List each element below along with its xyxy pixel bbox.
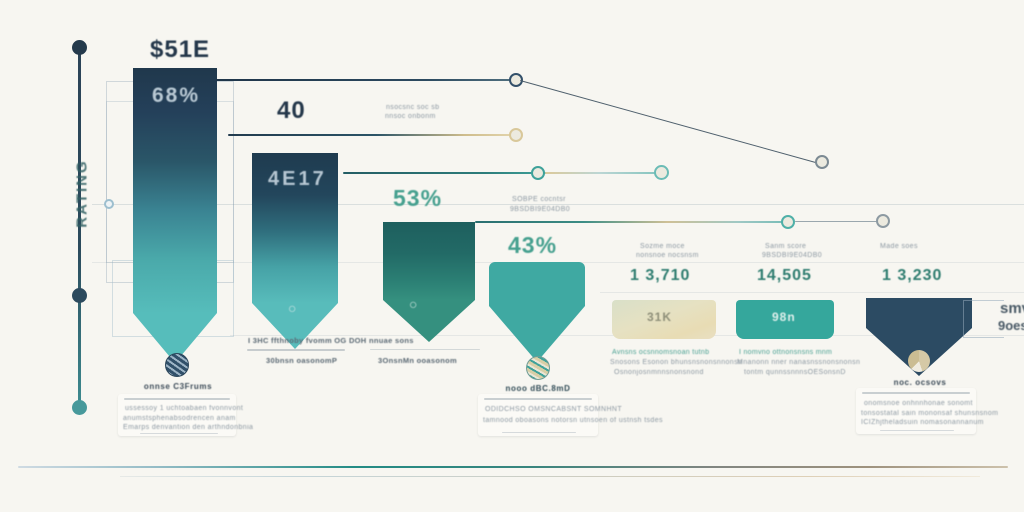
card-rule-bottom bbox=[140, 433, 218, 434]
funnel-3-headline: 53% bbox=[393, 185, 442, 212]
funnel-4-headline: 43% bbox=[508, 232, 557, 259]
funnel-5-note-1: onomsnoe onhnnhonae sonomt bbox=[864, 399, 973, 408]
connector-grey-tail-endpoint[interactable] bbox=[876, 214, 890, 228]
funnel-5-note-2: tonsostatal sain mononsaf shunsnsnom bbox=[861, 409, 998, 418]
connector-teal-lower-endpoint[interactable] bbox=[781, 215, 795, 229]
funnel-1-note-card[interactable]: ussessoy 1 uchtoabaen fvonnvont anumstsp… bbox=[118, 394, 236, 436]
funnel-2-marker-glyph: ○ bbox=[288, 300, 296, 316]
stat-card-teal-label: 98n bbox=[772, 310, 796, 324]
metric-label-1: Sozme moce bbox=[640, 242, 685, 251]
axis-node-top[interactable] bbox=[72, 40, 87, 55]
funnel-1-value-label: 68% bbox=[152, 84, 200, 108]
card-rule bbox=[124, 398, 230, 400]
funnel-4-marker-circle[interactable] bbox=[526, 356, 550, 380]
side-note-line-2: 9oes bbox=[998, 318, 1024, 333]
funnel-4-tip bbox=[489, 306, 585, 362]
funnel-5-note-card[interactable]: onomsnoe onhnnhonae sonomt tonsostatal s… bbox=[856, 388, 976, 434]
card-a-line-1: Avnsns ocsnnomsnoan tutnb bbox=[612, 348, 709, 357]
funnel-2-headline: 40 bbox=[277, 97, 306, 125]
bottom-divider-secondary bbox=[120, 476, 980, 477]
funnel-3-dark-body bbox=[383, 222, 475, 300]
funnel-4[interactable] bbox=[489, 262, 585, 362]
funnel-4-body bbox=[489, 262, 585, 306]
metric-value-1: 1 3,710 bbox=[630, 267, 690, 285]
funnel-4-note-2: tamnood oboasons notorsn utnsoen of ustn… bbox=[483, 416, 663, 425]
connector-teal-lower[interactable] bbox=[475, 221, 785, 223]
funnel-5-caption: noc. ocsovs bbox=[872, 378, 968, 387]
card-a-line-3: Osnonjosnmnnsnonsnond bbox=[614, 368, 704, 377]
micro-pair-a-1: nsocsnc soc sb bbox=[386, 103, 439, 112]
metric-value-3: 1 3,230 bbox=[882, 267, 942, 285]
card-rule-bottom bbox=[880, 430, 954, 431]
metric-value-2: 14,505 bbox=[757, 267, 812, 285]
connector-teal-mid-2[interactable] bbox=[545, 172, 665, 174]
micro-pair-b-2: 9BSDBI9E04DB0 bbox=[510, 205, 570, 214]
axis-node-mid[interactable] bbox=[72, 288, 87, 303]
y-axis-label: RATING bbox=[74, 104, 91, 284]
funnel-4-note-1: ODIDCHSO OMSNCABSNT SOMNHNT bbox=[485, 405, 622, 414]
side-note-line-1: smv bbox=[1000, 300, 1024, 317]
metric-sub-1: nonsnoe nocsnsm bbox=[636, 251, 699, 260]
funnel-1-note-3: Emarps denvantion den arthndonbnia bbox=[123, 423, 253, 432]
funnel-1-caption: onnse C3Frums bbox=[128, 382, 228, 391]
funnel-1-note-1: ussessoy 1 uchtoabaen fvonnvont bbox=[125, 404, 243, 413]
funnel-5-note-3: ICIZhjtheladsuin nomasonannanum bbox=[861, 418, 984, 427]
connector-teal-mid-2-endpoint[interactable] bbox=[654, 165, 669, 180]
funnel-3-dark-glyph: ○ bbox=[409, 296, 417, 312]
funnel-1-headline: $51E bbox=[150, 36, 210, 64]
connector-grey-tail[interactable] bbox=[795, 221, 880, 222]
connector-navy-top[interactable] bbox=[216, 79, 516, 81]
connector-teal-mid[interactable] bbox=[343, 172, 546, 174]
connector-diagonal-endpoint[interactable] bbox=[815, 155, 829, 169]
card-a-line-2: Snosons Esonon bhunsnsnonsnnonsn bbox=[610, 358, 742, 367]
funnel-2-note-1: 30bnsn oasonomP bbox=[266, 356, 337, 366]
metric-label-2: Sanm score bbox=[765, 242, 806, 251]
axis-node-bottom[interactable] bbox=[72, 400, 87, 415]
funnel-1[interactable] bbox=[133, 68, 217, 363]
metric-label-3: Made soes bbox=[880, 242, 918, 251]
funnel-3-dark[interactable] bbox=[383, 222, 475, 342]
funnel-3-dark-note: 3OnsnMn ooasonom bbox=[378, 356, 457, 366]
funnel-4-caption: nooo dBC.8mD bbox=[492, 384, 584, 393]
metric-sub-2: 9BSDBI9E04DB0 bbox=[762, 251, 822, 260]
funnel-5-marker-circle[interactable] bbox=[908, 350, 930, 372]
funnel-1-marker-circle[interactable] bbox=[165, 353, 189, 377]
funnel-5-body bbox=[866, 298, 972, 328]
funnel-4-note-card[interactable]: ODIDCHSO OMSNCABSNT SOMNHNT tamnood oboa… bbox=[478, 394, 598, 436]
funnel-2-caption: I 3HC ffthnoby fvomm OG DOH bbox=[248, 336, 367, 346]
connector-teal-mid-endpoint[interactable] bbox=[531, 166, 545, 180]
gridline-4 bbox=[600, 292, 1024, 293]
chart-canvas: RATING $51E 68% onnse C3Frums ussessoy 1… bbox=[0, 0, 1024, 512]
gridline-node[interactable] bbox=[104, 199, 114, 209]
connector-tan-endpoint[interactable] bbox=[509, 128, 523, 142]
micro-pair-a-2: nnsoc onbonm bbox=[385, 112, 436, 121]
card-rule bbox=[484, 398, 592, 400]
funnel-2-value-label: 4E17 bbox=[268, 168, 327, 191]
card-rule bbox=[862, 392, 970, 394]
card-b-line-2: Mnanonn nner nanasnssnonsnonsn bbox=[737, 358, 860, 367]
funnel-3-dark-rule bbox=[370, 349, 480, 350]
funnel-3-dark-caption: nnuae sons bbox=[369, 336, 414, 346]
connector-diagonal[interactable] bbox=[520, 80, 819, 164]
card-b-line-3: tontm qunnssnnnsOESonsnD bbox=[744, 368, 846, 377]
bottom-divider bbox=[18, 466, 1008, 468]
card-rule-bottom bbox=[502, 432, 576, 433]
stat-card-cream-label: 31K bbox=[647, 310, 672, 324]
micro-pair-b-1: SOBPE cocntsr bbox=[512, 195, 566, 204]
funnel-1-note-2: anumstsphenabsodrencen anam bbox=[123, 414, 236, 423]
connector-tan[interactable] bbox=[228, 134, 513, 136]
card-b-line-1: I nomvno ottnonsnsns mnm bbox=[739, 348, 832, 357]
funnel-2-rule bbox=[247, 349, 345, 351]
